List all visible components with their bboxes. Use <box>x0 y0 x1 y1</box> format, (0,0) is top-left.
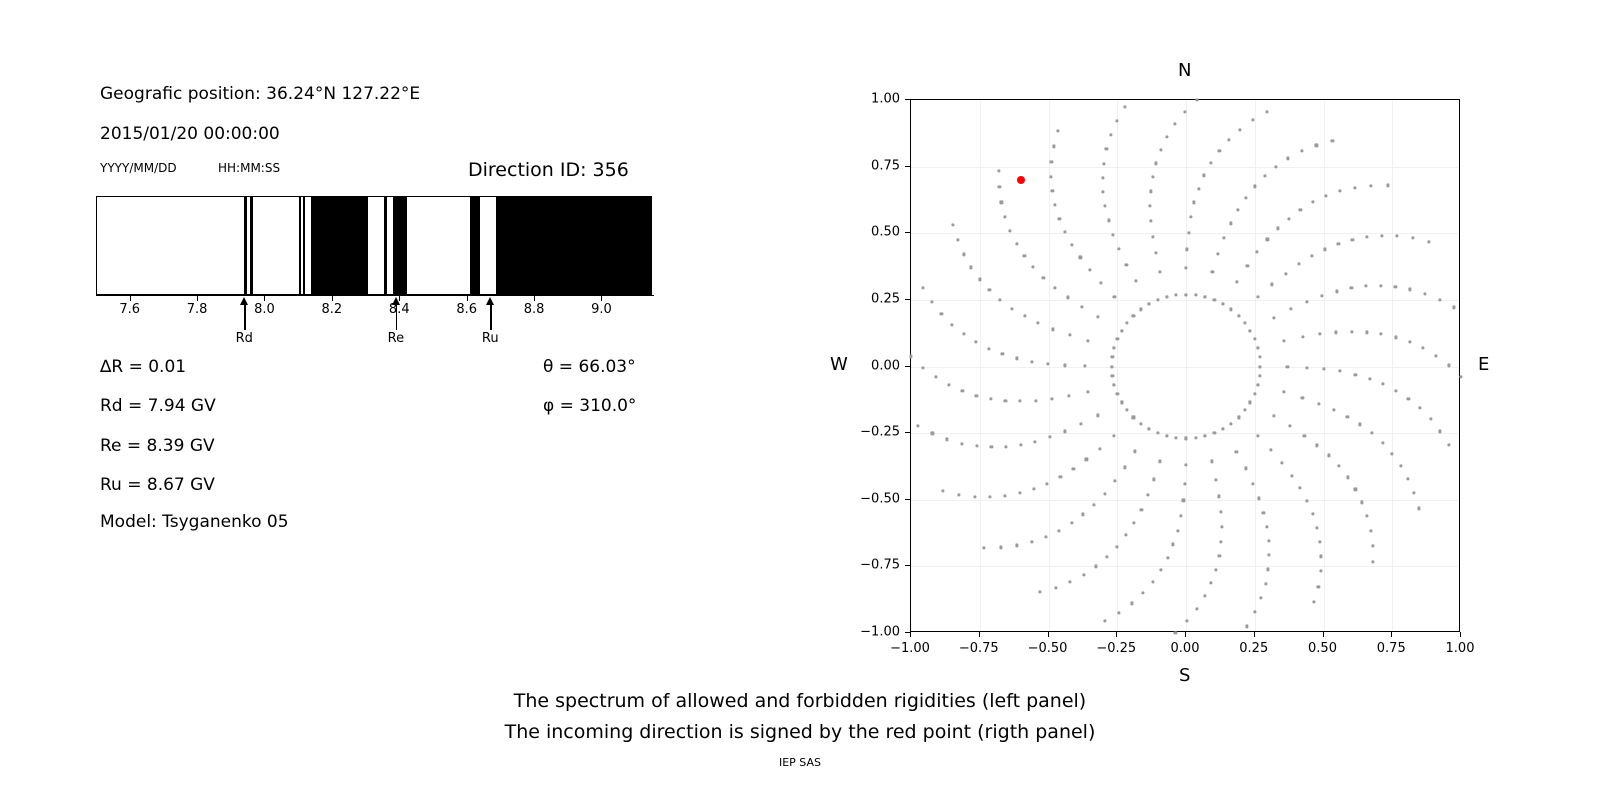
direction-dot <box>1172 543 1175 546</box>
direction-dot <box>1264 582 1267 585</box>
direction-dot <box>1107 219 1110 222</box>
compass-south-label: S <box>1179 665 1190 686</box>
direction-dot <box>1054 586 1057 589</box>
direction-dot <box>1204 295 1207 298</box>
direction-dot <box>1098 447 1101 450</box>
y-axis-tick-label: 1.00 <box>842 92 900 107</box>
direction-dot <box>1010 307 1013 310</box>
direction-dot <box>1256 384 1259 387</box>
direction-dot <box>1095 565 1098 568</box>
direction-dot <box>1149 219 1152 222</box>
direction-dot <box>1185 267 1188 270</box>
direction-dot <box>1156 298 1159 301</box>
direction-dot <box>1320 294 1323 297</box>
direction-dot <box>1350 287 1353 290</box>
direction-dot <box>1134 280 1137 283</box>
direction-dot <box>1159 569 1162 572</box>
direction-dot <box>1064 364 1067 367</box>
direction-dot <box>1118 248 1121 251</box>
direction-dot <box>1123 105 1126 108</box>
direction-dot <box>1325 194 1328 197</box>
direction-dot <box>1111 356 1114 359</box>
y-axis-tick-label: −0.75 <box>842 558 900 573</box>
direction-dot <box>1409 288 1412 291</box>
forbidden-band <box>299 197 301 294</box>
direction-dot <box>1256 296 1259 299</box>
direction-dot <box>1407 477 1410 480</box>
direction-dot <box>1399 464 1402 467</box>
direction-dot <box>1337 465 1340 468</box>
direction-dot <box>1253 185 1256 188</box>
direction-dot <box>1350 330 1353 333</box>
direction-dot <box>989 496 992 499</box>
delta-r-value: ∆R = 0.01 <box>100 357 186 377</box>
direction-dot <box>970 266 973 269</box>
direction-dot <box>1184 437 1187 440</box>
direction-dot <box>1185 248 1188 251</box>
direction-dot <box>1413 491 1416 494</box>
direction-dot <box>1066 296 1069 299</box>
direction-dot <box>1335 331 1338 334</box>
direction-dot <box>1151 235 1154 238</box>
rigidity-spectrum-panel: Geografic position: 36.24°N 127.22°E 201… <box>0 0 760 660</box>
direction-dot <box>1272 414 1275 417</box>
direction-dot <box>1371 560 1374 563</box>
direction-dot <box>1051 190 1054 193</box>
direction-dot <box>930 300 933 303</box>
direction-dot <box>1235 450 1238 453</box>
x-axis-tick-label: −0.75 <box>959 641 999 656</box>
direction-dot <box>1158 460 1161 463</box>
marker-shaft <box>490 303 491 330</box>
direction-dot <box>1184 293 1187 296</box>
direction-dot <box>1395 389 1398 392</box>
direction-dot <box>922 286 925 289</box>
direction-dot <box>1113 480 1116 483</box>
direction-dot <box>1246 264 1249 267</box>
direction-dot <box>1113 434 1116 437</box>
direction-dot <box>1057 529 1060 532</box>
direction-dot <box>1034 399 1037 402</box>
direction-dot <box>1222 303 1225 306</box>
direction-dot <box>1149 190 1152 193</box>
direction-dot <box>1064 230 1067 233</box>
direction-dot <box>1211 270 1214 273</box>
direction-dot <box>1365 235 1368 238</box>
forbidden-band <box>311 197 368 294</box>
direction-dot <box>1313 601 1316 604</box>
direction-dot <box>1319 555 1322 558</box>
direction-dot <box>1001 353 1004 356</box>
direction-dot <box>1249 329 1252 332</box>
x-axis-tick <box>1185 632 1186 637</box>
direction-dot <box>1106 555 1109 558</box>
direction-dot <box>1050 397 1053 400</box>
direction-dot <box>1166 135 1169 138</box>
x-axis-tick <box>979 632 980 637</box>
direction-dot <box>1056 129 1059 132</box>
direction-dot <box>1023 254 1026 257</box>
direction-dot <box>1408 340 1411 343</box>
direction-dot <box>1113 295 1116 298</box>
direction-dot <box>1213 431 1216 434</box>
direction-dot <box>1276 227 1279 230</box>
forbidden-band <box>250 197 253 294</box>
direction-dot <box>1067 394 1070 397</box>
direction-dot <box>1032 265 1035 268</box>
direction-dot <box>1054 204 1057 207</box>
direction-dot <box>941 489 944 492</box>
direction-dot <box>1354 186 1357 189</box>
x-axis-tick-label: 1.00 <box>1446 641 1475 656</box>
direction-dot <box>1260 596 1263 599</box>
direction-id-label: Direction ID: 356 <box>468 159 629 181</box>
direction-dot <box>1335 290 1338 293</box>
direction-dot <box>1300 150 1303 153</box>
direction-dot <box>1037 322 1040 325</box>
direction-dot <box>1319 333 1322 336</box>
direction-dot <box>1151 176 1154 179</box>
direction-dot <box>1371 544 1374 547</box>
direction-dot <box>1229 222 1232 225</box>
direction-dot <box>1110 365 1113 368</box>
direction-dot <box>1396 235 1399 238</box>
y-axis-tick-label: 0.75 <box>842 158 900 173</box>
direction-dot <box>962 333 965 336</box>
gridline-vertical <box>1186 100 1187 631</box>
gridline-horizontal <box>911 300 1459 301</box>
direction-dot <box>1093 503 1096 506</box>
direction-dot <box>1267 539 1270 542</box>
caption-line-2: The incoming direction is signed by the … <box>0 717 1600 748</box>
direction-dot <box>1381 441 1384 444</box>
rd-value: Rd = 7.94 GV <box>100 396 216 416</box>
direction-dot <box>1038 590 1041 593</box>
direction-dot <box>1220 511 1223 514</box>
direction-dot <box>1174 122 1177 125</box>
direction-dot <box>1365 514 1368 517</box>
direction-dot <box>1368 377 1371 380</box>
direction-dot <box>1272 316 1275 319</box>
direction-dot <box>946 438 949 441</box>
direction-dot <box>922 366 925 369</box>
direction-dot <box>1104 205 1107 208</box>
gridline-horizontal <box>911 500 1459 501</box>
direction-dot <box>1174 631 1177 634</box>
x-axis-tick <box>1460 632 1461 637</box>
direction-dot <box>1000 201 1003 204</box>
direction-dot <box>1182 499 1185 502</box>
direction-dot <box>1100 281 1103 284</box>
direction-dot <box>1044 535 1047 538</box>
spectrum-plot-area <box>96 196 652 295</box>
direction-dot <box>1258 374 1261 377</box>
forbidden-band <box>303 197 305 294</box>
direction-dot <box>1218 495 1221 498</box>
re-value: Re = 8.39 GV <box>100 436 215 456</box>
direction-dot <box>1311 201 1314 204</box>
direction-dot <box>1059 475 1062 478</box>
direction-dot <box>1063 430 1066 433</box>
direction-dot <box>1125 263 1128 266</box>
direction-dot <box>910 355 913 358</box>
spectrum-axis-tick-label: 8.6 <box>456 302 477 317</box>
direction-dot <box>1237 416 1240 419</box>
direction-dot <box>1197 187 1200 190</box>
direction-dot <box>957 493 960 496</box>
selected-direction-point[interactable] <box>1017 176 1025 184</box>
direction-dot <box>1237 314 1240 317</box>
caption-line-1: The spectrum of allowed and forbidden ri… <box>0 686 1600 717</box>
direction-dot <box>1217 252 1220 255</box>
direction-map-plot-box <box>910 99 1460 632</box>
direction-dot <box>1184 463 1187 466</box>
direction-dot <box>1310 255 1313 258</box>
direction-dot <box>1096 414 1099 417</box>
direction-dot <box>1439 430 1442 433</box>
direction-dot <box>1154 162 1157 165</box>
gridline-horizontal <box>911 167 1459 168</box>
direction-dot <box>999 546 1002 549</box>
direction-dot <box>1050 160 1053 163</box>
direction-dot <box>1103 620 1106 623</box>
direction-dot <box>1257 497 1260 500</box>
direction-dot <box>952 223 955 226</box>
direction-dot <box>1158 270 1161 273</box>
direction-dot <box>1318 540 1321 543</box>
spectrum-axis-tick-label: 7.8 <box>187 302 208 317</box>
direction-dot <box>1139 308 1142 311</box>
direction-dot <box>1282 391 1285 394</box>
direction-dot <box>1243 409 1246 412</box>
direction-dot <box>1018 492 1021 495</box>
direction-dot <box>1346 415 1349 418</box>
direction-dot <box>956 238 959 241</box>
direction-dot <box>1116 337 1119 340</box>
direction-dot <box>1244 196 1247 199</box>
direction-dot <box>1317 402 1320 405</box>
phi-value: φ = 310.0° <box>543 396 636 416</box>
direction-dot <box>1253 337 1256 340</box>
direction-dot <box>1239 128 1242 131</box>
direction-dot <box>1112 233 1115 236</box>
x-axis-tick-label: 0.75 <box>1377 641 1406 656</box>
direction-dot <box>1139 422 1142 425</box>
y-axis-tick <box>905 99 910 100</box>
direction-dot <box>1113 384 1116 387</box>
direction-dot <box>1331 139 1334 142</box>
spectrum-axis-tick <box>601 295 602 301</box>
y-axis-tick <box>905 366 910 367</box>
direction-dot <box>1117 611 1120 614</box>
direction-dot <box>1332 408 1335 411</box>
x-axis-tick <box>1254 632 1255 637</box>
direction-dot <box>988 289 991 292</box>
direction-dot <box>1386 184 1389 187</box>
direction-dot <box>1147 427 1150 430</box>
direction-dot <box>1165 295 1168 298</box>
direction-dot <box>1359 423 1362 426</box>
spectrum-axis-tick <box>197 295 198 301</box>
direction-dot <box>1123 466 1126 469</box>
x-axis-tick-label: −0.25 <box>1096 641 1136 656</box>
direction-dot <box>1103 492 1106 495</box>
direction-dot <box>1354 488 1357 491</box>
direction-dot <box>1003 494 1006 497</box>
direction-dot <box>974 340 977 343</box>
direction-dot <box>1380 333 1383 336</box>
direction-dot <box>1023 315 1026 318</box>
direction-dot <box>1141 592 1144 595</box>
direction-dot <box>1411 237 1414 240</box>
direction-dot <box>1230 422 1233 425</box>
direction-dot <box>1087 339 1090 342</box>
time-format-hint: HH:MM:SS <box>218 161 280 175</box>
direction-dot <box>1058 217 1061 220</box>
direction-dot <box>1447 364 1450 367</box>
direction-dot <box>1082 513 1085 516</box>
direction-dot <box>1263 174 1266 177</box>
direction-dot <box>1339 189 1342 192</box>
gridline-horizontal <box>911 233 1459 234</box>
spectrum-axis-tick-label: 7.6 <box>119 302 140 317</box>
direction-dot <box>1111 374 1114 377</box>
direction-dot <box>1319 570 1322 573</box>
direction-dot <box>1303 434 1306 437</box>
direction-dot <box>1052 328 1055 331</box>
compass-east-label: E <box>1478 354 1489 375</box>
gridline-horizontal <box>911 566 1459 567</box>
direction-dot <box>990 446 993 449</box>
y-axis-tick <box>905 499 910 500</box>
direction-dot <box>1132 416 1135 419</box>
geographic-position-label: Geografic position: 36.24°N 127.22°E <box>100 84 420 104</box>
direction-dot <box>1156 431 1159 434</box>
direction-dot <box>1364 285 1367 288</box>
direction-dot <box>1070 522 1073 525</box>
direction-dot <box>1360 501 1363 504</box>
spectrum-axis-tick <box>332 295 333 301</box>
direction-dot <box>1268 554 1271 557</box>
direction-dot <box>1256 346 1259 349</box>
direction-dot <box>1235 280 1238 283</box>
direction-dot <box>1256 250 1259 253</box>
direction-dot <box>1195 607 1198 610</box>
y-axis-tick <box>905 232 910 233</box>
direction-dot <box>1204 434 1207 437</box>
direction-dot <box>1203 595 1206 598</box>
spectrum-axis-tick <box>534 295 535 301</box>
direction-dot <box>1394 336 1397 339</box>
direction-dot <box>1243 321 1246 324</box>
direction-dot <box>1305 300 1308 303</box>
gridline-vertical <box>1117 100 1118 631</box>
direction-dot <box>1146 494 1149 497</box>
direction-dot <box>1236 208 1239 211</box>
direction-dot <box>975 445 978 448</box>
y-axis-tick <box>905 299 910 300</box>
direction-dot <box>1034 440 1037 443</box>
direction-dot <box>1132 314 1135 317</box>
marker-shaft <box>244 303 245 330</box>
direction-dot <box>1214 568 1217 571</box>
direction-dot <box>1193 201 1196 204</box>
direction-dot <box>1004 399 1007 402</box>
direction-dot <box>978 278 981 281</box>
direction-dot <box>1417 507 1420 510</box>
gridline-vertical <box>980 100 981 631</box>
direction-dot <box>1289 424 1292 427</box>
direction-dot <box>1004 445 1007 448</box>
forbidden-band <box>393 197 407 294</box>
direction-dot <box>1116 392 1119 395</box>
direction-dot <box>962 253 965 256</box>
direction-dot <box>1151 580 1154 583</box>
direction-dot <box>1266 238 1269 241</box>
y-axis-tick-label: −0.50 <box>842 491 900 506</box>
direction-dot <box>1046 482 1049 485</box>
direction-dot <box>940 312 943 315</box>
direction-dot <box>1030 540 1033 543</box>
x-axis-tick <box>910 632 911 637</box>
y-axis-tick <box>905 565 910 566</box>
direction-dot <box>1305 499 1308 502</box>
direction-dot <box>1115 119 1118 122</box>
figure-caption: The spectrum of allowed and forbidden ri… <box>0 686 1600 748</box>
direction-dot <box>1083 365 1086 368</box>
spectrum-axis-tick-label: 8.2 <box>322 302 343 317</box>
forbidden-band <box>470 197 479 294</box>
direction-dot <box>1438 298 1441 301</box>
direction-dot <box>1251 119 1254 122</box>
x-axis-tick-label: 0.25 <box>1239 641 1268 656</box>
ru-value: Ru = 8.67 GV <box>100 475 215 495</box>
gridline-vertical <box>1255 100 1256 631</box>
direction-dot <box>1222 427 1225 430</box>
direction-dot <box>1194 294 1197 297</box>
direction-dot <box>1046 362 1049 365</box>
direction-dot <box>1068 334 1071 337</box>
direction-dot <box>1102 162 1105 165</box>
x-axis-tick <box>1391 632 1392 637</box>
direction-dot <box>983 546 986 549</box>
gridline-horizontal <box>911 367 1459 368</box>
direction-dot <box>1130 602 1133 605</box>
direction-dot <box>1253 392 1256 395</box>
direction-dot <box>1079 256 1082 259</box>
direction-dot <box>1053 286 1056 289</box>
direction-dot <box>1185 620 1188 623</box>
direction-dot <box>999 298 1002 301</box>
direction-dot <box>1049 175 1052 178</box>
direction-dot <box>1187 231 1190 234</box>
direction-dot <box>1382 383 1385 386</box>
direction-dot <box>1267 568 1270 571</box>
direction-dot <box>1297 263 1300 266</box>
direction-dot <box>973 495 976 498</box>
y-axis-tick-label: 0.00 <box>842 358 900 373</box>
forbidden-band <box>384 197 387 294</box>
direction-dot <box>934 375 937 378</box>
direction-dot <box>1299 208 1302 211</box>
direction-dot <box>1284 272 1287 275</box>
figure-canvas: Geografic position: 36.24°N 127.22°E 201… <box>0 0 1600 800</box>
direction-dot <box>1259 365 1262 368</box>
figure-footer: IEP SAS <box>0 756 1600 769</box>
y-axis-tick-label: −1.00 <box>842 625 900 640</box>
direction-dot <box>1120 401 1123 404</box>
spectrum-axis-tick-label: 8.8 <box>524 302 545 317</box>
